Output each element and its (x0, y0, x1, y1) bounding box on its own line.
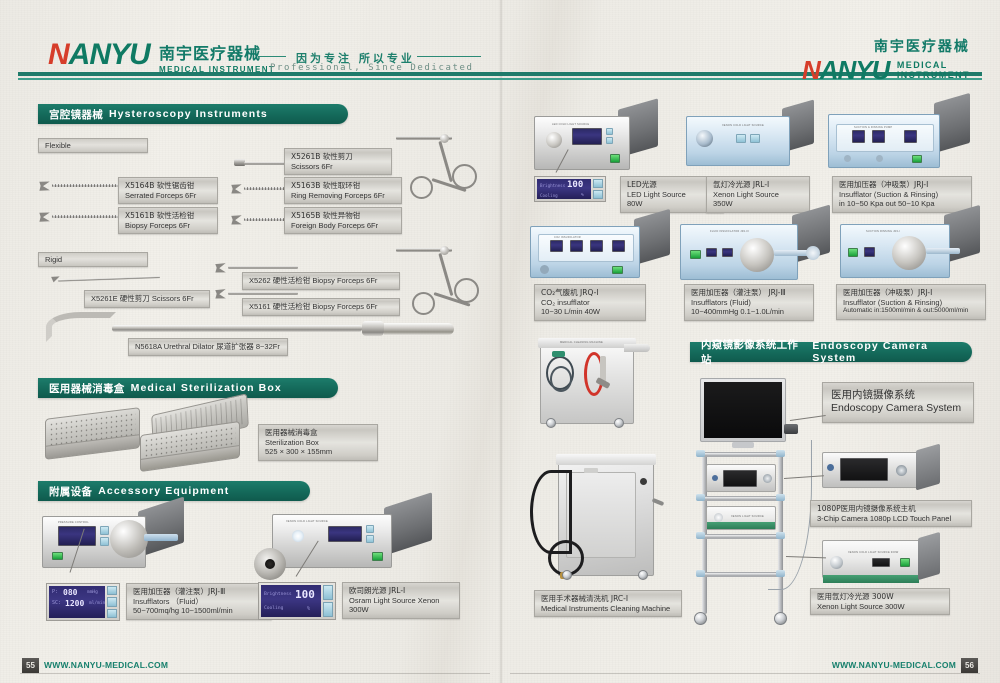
label-cleaning-machine: 医用手术器械清洗机 JRC-Ⅰ Medical Instruments Clea… (534, 590, 682, 617)
label-x5262-text: X5262 硬性活检钳 Biopsy Forceps 6Fr (249, 276, 393, 286)
label-x5261e-code: X5261E (91, 294, 118, 303)
label-x5261e-en: Scissors 6Fr (152, 294, 194, 303)
banner-cn-accessory: 附属设备 (49, 484, 92, 499)
footer-rule-left (20, 673, 490, 674)
banner-cn-sterilization: 医用器械消毒盒 (49, 381, 125, 396)
label-x5165b-cn: X5165B 软性异物钳 (291, 211, 395, 221)
lcd-keypad-led[interactable] (593, 179, 603, 199)
label-x5164b-en: Serrated Forceps 6Fr (125, 191, 211, 201)
section-banner-hysteroscopy: 宫腔镜器械 Hysteroscopy Instruments (38, 104, 348, 124)
label-x5165b: X5165B 软性异物钳 Foreign Body Forceps 6Fr (284, 207, 402, 234)
lcd-value-cooling: % (307, 606, 310, 612)
device-xenon-light-source-350w: XENON COLD LIGHT SOURCE (686, 112, 814, 170)
section-banner-accessory: 附属设备 Accessory Equipment (38, 481, 310, 501)
label-x5161-code: X5161 (249, 302, 271, 311)
label-sterilization-box: 医用器械消毒盒 Sterilization Box 525 × 300 × 15… (258, 424, 378, 461)
group-label-flexible-text: Flexible (45, 141, 141, 151)
label-insuf-fluid2-spec: 10~400mmHg 0.1~1.0L/min (691, 307, 807, 317)
label-x5262: X5262 硬性活检钳 Biopsy Forceps 6Fr (242, 272, 400, 290)
label-cleaning-cn: 医用手术器械清洗机 JRC-Ⅰ (541, 594, 675, 604)
lcd-value-sc: 1200 (65, 599, 84, 608)
label-x5261e-text: X5261E 硬性剪刀 Scissors 6Fr (91, 294, 203, 304)
label-x5261e-cn: 硬性剪刀 (120, 294, 150, 303)
label-led-spec: 80W (627, 199, 717, 209)
footer-left: 55 WWW.NANYU-MEDICAL.COM (22, 657, 168, 673)
label-sterilization-size: 525 × 300 × 155mm (265, 447, 371, 457)
label-1080p-camera: 1080P医用内镜摄像系统主机 3-Chip Camera 1080p LCD … (810, 500, 972, 527)
label-1080p-en: 3-Chip Camera 1080p LCD Touch Panel (817, 514, 965, 524)
logo-sub-line2: INSTRUMENT (897, 70, 970, 80)
label-xenon300-en: Xenon Light Source 300W (817, 602, 943, 612)
label-x5161b: X5161B 软性活检钳 Biopsy Forceps 6Fr (118, 207, 218, 234)
footer-url-left[interactable]: WWW.NANYU-MEDICAL.COM (44, 660, 168, 670)
label-camera-system-main: 医用内镜摄像系统 Endoscopy Camera System (822, 382, 974, 423)
hose-grey-2 (550, 366, 572, 392)
label-osram-light: 欧司朗光源 JRL-Ⅰ Osram Light Source Xenon 300… (342, 582, 460, 619)
lcd-label-cooling-led: Cooling (540, 193, 558, 198)
label-insuf-suction-cn: 医用加压器（冲吸泵）JRJ-Ⅰ (839, 180, 965, 190)
lcd-unit-sc: ml/min (89, 601, 105, 606)
logo-sub-line1: MEDICAL (897, 60, 970, 70)
device-insufflator-fluid: PRESSURE CONTROL (42, 512, 184, 570)
label-co2-spec: 10~30 L/min 40W (541, 307, 639, 317)
label-insufflator-fluid-right: 医用加压器（灌注泵） JRJ-Ⅲ Insufflators (Fluid) 10… (684, 284, 814, 321)
light-guide-connector (254, 548, 286, 580)
group-label-rigid-text: Rigid (45, 255, 141, 265)
footer-rule-right (510, 673, 980, 674)
label-co2-en: CO₂ insufflator (541, 298, 639, 308)
label-x5262-cn: 硬性活检钳 (273, 276, 311, 285)
label-x5164b: X5164B 软性锯齿钳 Serrated Forceps 6Fr (118, 177, 218, 204)
lcd-keypad-insufflator[interactable] (107, 586, 117, 618)
catalog-page: NANYU 南宇医疗器械 MEDICAL INSTRUMENT 因为专注 所以专… (0, 0, 1000, 683)
label-osram-en: Osram Light Source Xenon (349, 596, 453, 606)
label-x5163b: X5163B 软性取环钳 Ring Removing Forceps 6Fr (284, 177, 402, 204)
label-insuf-auto-en: Insufflator (Suction & Rinsing) (843, 298, 979, 308)
slogan-rule-right (417, 56, 481, 57)
label-x5261b: X5261B 软性剪刀 Scissors 6Fr (284, 148, 392, 175)
banner-en-sterilization: Medical Sterilization Box (131, 382, 282, 394)
slogan-rule-left (258, 56, 286, 57)
logo-right: 南宇医疗器械 NANYU MEDICAL INSTRUMENT (802, 36, 970, 86)
label-insuf-suction-en: Insufflator (Suction & Rinsing) (839, 190, 965, 200)
group-label-flexible: Flexible (38, 138, 148, 153)
callout-lcd-led: Brightness 100 Cooling % (534, 176, 606, 202)
monitor-screen (704, 382, 782, 438)
label-x5161-cn: 硬性活检钳 (273, 302, 311, 311)
lcd-screen-insufflator: P: 080 mmHg SC: 1200 ml/min (49, 586, 105, 618)
lcd-label-sc: SC: (52, 600, 61, 606)
label-xenon-350w: 氙灯冷光源 JRL-Ⅰ Xenon Light Source 350W (706, 176, 810, 213)
device-led-light-source: LED COLD LIGHT SOURCE (534, 112, 658, 172)
label-co2-insufflator: CO₂气腹机 JRQ-Ⅰ CO₂ insufflator 10~30 L/min… (534, 284, 646, 321)
lcd-screen-osram: Brightness 100 Cooling % (261, 585, 321, 617)
page-number-right: 56 (961, 658, 978, 673)
label-x5161b-cn: X5161B 软性活检钳 (125, 211, 211, 221)
lcd-keypad-osram[interactable] (323, 585, 333, 617)
lcd-unit-p: mmHg (87, 590, 98, 595)
logo-word-red: N (48, 38, 69, 71)
label-insufflator-fluid-cn: 医用加压器（灌注泵）JRJ-Ⅲ (133, 587, 265, 597)
label-dilator: N5618A Urethral Dilator 尿道扩张器 8~32Fr (128, 338, 288, 356)
label-x5161-text: X5161 硬性活检钳 Biopsy Forceps 6Fr (249, 302, 393, 312)
label-x5163b-en: Ring Removing Forceps 6Fr (291, 191, 395, 201)
lcd-label-brightness: Brightness (264, 592, 292, 597)
logo-word-red-2: N (802, 55, 820, 85)
label-led-cn: LED光源 (627, 180, 717, 190)
label-cleaning-en: Medical Instruments Cleaning Machine (541, 604, 675, 614)
lcd-value-brightness-led: 100 (567, 180, 583, 190)
footer-right: WWW.NANYU-MEDICAL.COM 56 (832, 657, 978, 673)
device-insufflator-suction-auto: SUCTION RINSING JRJ-I (840, 220, 980, 280)
label-insuf-suction-spec: in 10~50 Kpa out 50~10 Kpa (839, 199, 965, 209)
banner-cn-camera: 内窥镜影像系统工作站 (701, 337, 806, 367)
label-x5163b-cn: X5163B 软性取环钳 (291, 181, 395, 191)
label-x5261b-en: Scissors 6Fr (291, 162, 385, 172)
logo-word-green: ANYU (69, 38, 150, 71)
label-insuf-fluid2-en: Insufflators (Fluid) (691, 298, 807, 308)
lcd-value-brightness: 100 (295, 588, 315, 601)
label-camera-main-en: Endoscopy Camera System (831, 402, 965, 415)
label-insufflator-suction-top: 医用加压器（冲吸泵）JRJ-Ⅰ Insufflator (Suction & R… (832, 176, 972, 213)
banner-cn-hysteroscopy: 宫腔镜器械 (49, 107, 103, 122)
label-xenon350-spec: 350W (713, 199, 803, 209)
slogan-english: Professional, Since Dedicated (270, 63, 474, 73)
label-x5161-en: Biopsy Forceps 6Fr (312, 302, 377, 311)
device-1080p-camera (822, 452, 940, 494)
page-number-left: 55 (22, 658, 39, 673)
label-x5261e: X5261E 硬性剪刀 Scissors 6Fr (84, 290, 210, 308)
label-insufflator-fluid-spec: 50~700mq/hg 10~1500ml/min (133, 606, 265, 616)
label-x5165b-en: Foreign Body Forceps 6Fr (291, 221, 395, 231)
logo-left: NANYU 南宇医疗器械 MEDICAL INSTRUMENT (48, 38, 275, 74)
label-xenon350-cn: 氙灯冷光源 JRL-Ⅰ (713, 180, 803, 190)
footer-url-right[interactable]: WWW.NANYU-MEDICAL.COM (832, 660, 956, 670)
label-insufflator-fluid-en: Insufflators （Fluid） (133, 597, 265, 607)
label-osram-cn: 欧司朗光源 JRL-Ⅰ (349, 586, 453, 596)
label-xenon-300w: 医用氙灯冷光源 300W Xenon Light Source 300W (810, 588, 950, 615)
leader-camera-main (790, 415, 826, 421)
logo-word-green-2: ANYU (820, 55, 890, 85)
callout-lcd-insufflator-fluid: P: 080 mmHg SC: 1200 ml/min (46, 583, 120, 621)
label-x5262-code: X5262 (249, 276, 271, 285)
device-insufflator-suction-rinsing: SUCTION & RINSING PUMP (828, 108, 970, 170)
camera-head (784, 424, 798, 434)
lcd-label-brightness-led: Brightness (540, 183, 565, 188)
cart-light-unit: XENON LIGHT SOURCE (706, 506, 776, 530)
lcd-label-p: P: (52, 589, 58, 595)
section-banner-camera-system: 内窥镜影像系统工作站 Endoscopy Camera System (690, 342, 972, 362)
label-insuf-auto-spec: Automatic in:1500ml/min & out:5000ml/min (843, 307, 979, 315)
section-banner-sterilization: 医用器械消毒盒 Medical Sterilization Box (38, 378, 338, 398)
label-led-en: LED Light Source (627, 190, 717, 200)
book-spine (499, 0, 503, 683)
banner-en-accessory: Accessory Equipment (98, 485, 229, 497)
label-insufflator-fluid: 医用加压器（灌注泵）JRJ-Ⅲ Insufflators （Fluid） 50~… (126, 583, 272, 620)
device-insufflator-fluid-right: FLUID INSUFFLATOR JRJ-III (680, 220, 830, 282)
label-insuf-fluid2-cn: 医用加压器（灌注泵） JRJ-Ⅲ (691, 288, 807, 298)
logo-subtitle-left: MEDICAL INSTRUMENT (159, 65, 275, 74)
lcd-value-cooling-led: % (581, 193, 584, 198)
label-co2-cn: CO₂气腹机 JRQ-Ⅰ (541, 288, 639, 298)
logo-chinese-left: 南宇医疗器械 (159, 40, 275, 64)
label-sterilization-cn: 医用器械消毒盒 (265, 428, 371, 438)
device-osram-light-source: XENON COLD LIGHT SOURCE (272, 510, 432, 570)
label-x5164b-cn: X5164B 软性锯齿钳 (125, 181, 211, 191)
label-insufflator-suction-auto: 医用加压器（冲吸泵）JRJ-Ⅰ Insufflator (Suction & R… (836, 284, 986, 320)
cart-monitor (700, 378, 786, 442)
device-xenon-300w: XENON COLD LIGHT SOURCE 300W (822, 540, 940, 584)
label-x5262-en: Biopsy Forceps 6Fr (312, 276, 377, 285)
lcd-screen-led: Brightness 100 Cooling % (537, 179, 591, 199)
cart-camera-unit (706, 464, 776, 492)
lcd-value-p: 080 (63, 588, 77, 597)
logo-chinese-right: 南宇医疗器械 (802, 36, 970, 56)
label-dilator-text: N5618A Urethral Dilator 尿道扩张器 8~32Fr (135, 342, 281, 352)
label-x5261b-cn: X5261B 软性剪刀 (291, 152, 385, 162)
device-co2-insufflator: CO2 INSUFFLATOR (530, 222, 670, 280)
label-x5161b-en: Biopsy Forceps 6Fr (125, 221, 211, 231)
label-camera-main-cn: 医用内镜摄像系统 (831, 389, 965, 402)
label-x5161: X5161 硬性活检钳 Biopsy Forceps 6Fr (242, 298, 400, 316)
scope-cable (768, 440, 812, 590)
lcd-label-cooling: Cooling (264, 606, 283, 611)
label-xenon300-cn: 医用氙灯冷光源 300W (817, 592, 943, 602)
group-label-rigid: Rigid (38, 252, 148, 267)
label-xenon350-en: Xenon Light Source (713, 190, 803, 200)
banner-en-camera: Endoscopy Camera System (812, 340, 972, 364)
label-osram-spec: 300W (349, 605, 453, 615)
label-insuf-auto-cn: 医用加压器（冲吸泵）JRJ-Ⅰ (843, 288, 979, 298)
callout-lcd-osram: Brightness 100 Cooling % (258, 582, 336, 620)
label-1080p-cn: 1080P医用内镜摄像系统主机 (817, 504, 965, 514)
label-sterilization-en: Sterilization Box (265, 438, 371, 448)
banner-en-hysteroscopy: Hysteroscopy Instruments (109, 108, 268, 120)
